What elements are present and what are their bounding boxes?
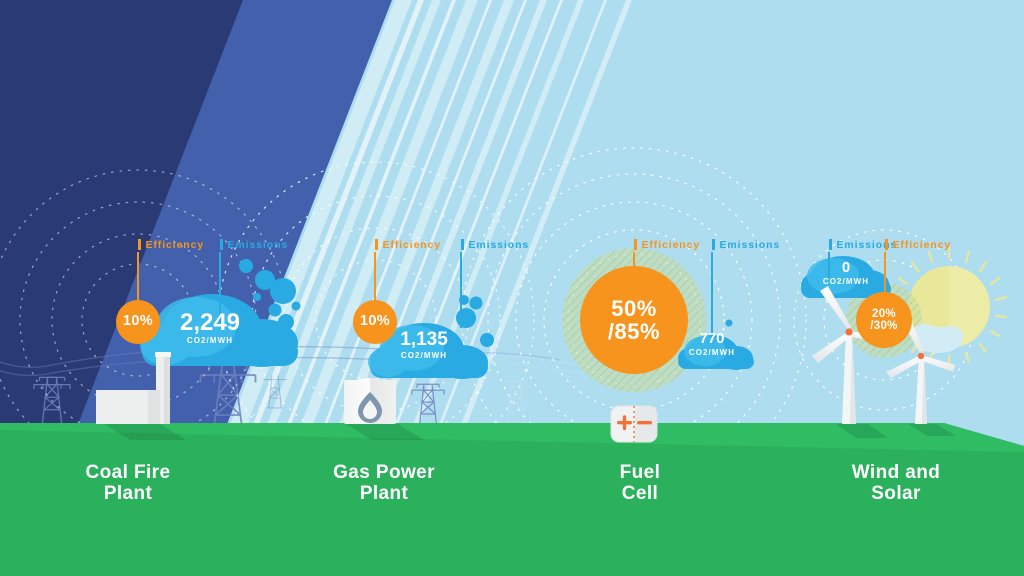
efficiency-label-fuelcell: Efficiency: [634, 239, 700, 251]
caption-fuel-cell: Fuel Cell: [512, 462, 768, 505]
column-wind-and-solar: Emissions 0 CO2/MWH Efficiency 20% /30% …: [768, 0, 1024, 576]
efficiency-stem: [884, 252, 886, 294]
efficiency-value-fuelcell: 50% /85%: [580, 266, 688, 374]
emissions-tick-icon: [829, 239, 832, 250]
emissions-stem: [460, 252, 462, 328]
emissions-value-fuelcell: 770 CO2/MWH: [678, 331, 746, 357]
caption-gas-power-plant: Gas Power Plant: [256, 462, 512, 505]
efficiency-stem: [137, 252, 139, 302]
efficiency-label-windsolar: Efficiency: [885, 239, 951, 251]
efficiency-stem: [374, 252, 376, 302]
caption-wind-and-solar: Wind and Solar: [768, 462, 1024, 505]
emissions-value-windsolar: 0 CO2/MWH: [808, 260, 884, 286]
emissions-value-gas: 1,135 CO2/MWH: [382, 330, 466, 360]
efficiency-tick-icon: [885, 239, 888, 250]
emissions-tick-icon: [220, 239, 223, 250]
column-gas-power-plant: Efficiency 10% Emissions 1,135 CO2/MWH G…: [256, 0, 512, 576]
efficiency-tick-icon: [375, 239, 378, 250]
efficiency-value-coal: 10%: [116, 300, 160, 344]
efficiency-label-coal: Efficiency: [138, 239, 204, 251]
infographic-canvas: Efficiency 10% Emissions 2,249 CO2/MWH C…: [0, 0, 1024, 576]
efficiency-value-windsolar: 20% /30%: [856, 292, 912, 348]
emissions-tick-icon: [461, 239, 464, 250]
efficiency-label-gas: Efficiency: [375, 239, 441, 251]
efficiency-tick-icon: [634, 239, 637, 250]
caption-coal-fire-plant: Coal Fire Plant: [0, 462, 256, 505]
emissions-value-coal: 2,249 CO2/MWH: [158, 310, 262, 346]
column-fuel-cell: Efficiency 50% /85% Emissions 770 CO2/MW…: [512, 0, 768, 576]
efficiency-tick-icon: [138, 239, 141, 250]
emissions-tick-icon: [712, 239, 715, 250]
column-coal-fire-plant: Efficiency 10% Emissions 2,249 CO2/MWH C…: [0, 0, 256, 576]
